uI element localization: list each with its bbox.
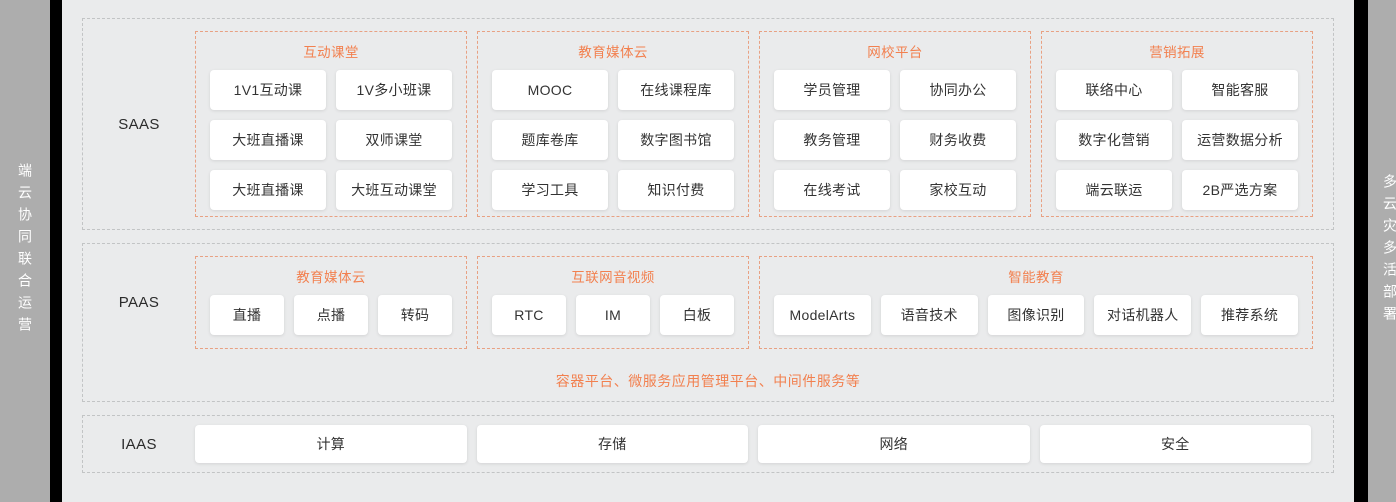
chip-item[interactable]: MOOC	[492, 70, 608, 110]
right-rail: 多云灾多活部署	[1368, 0, 1396, 502]
group-jiaoyumeitiyun: 教育媒体云 MOOC 在线课程库 题库卷库 数字图书馆 学习工具 知识付费	[477, 31, 749, 217]
group-paas-jiaoyumeitiyun: 教育媒体云 直播 点播 转码	[195, 256, 467, 349]
chip-item[interactable]: 教务管理	[774, 120, 890, 160]
chip-item[interactable]: 直播	[210, 295, 284, 335]
group-title: 教育媒体云	[578, 46, 648, 60]
chip-item[interactable]: 在线课程库	[618, 70, 734, 110]
left-rail: 端云协同联合运营	[0, 0, 50, 502]
chip-item[interactable]: ModelArts	[774, 295, 871, 335]
chip-item[interactable]: 学习工具	[492, 170, 608, 210]
tier-iaas-label: IAAS	[83, 416, 195, 472]
saas-groups: 互动课堂 1V1互动课 1V多小班课 大班直播课 双师课堂 大班直播课 大班互动…	[195, 19, 1333, 229]
group-items: 1V1互动课 1V多小班课 大班直播课 双师课堂 大班直播课 大班互动课堂	[210, 70, 452, 210]
tier-saas-body: 互动课堂 1V1互动课 1V多小班课 大班直播课 双师课堂 大班直播课 大班互动…	[195, 19, 1333, 229]
group-huodongketang: 互动课堂 1V1互动课 1V多小班课 大班直播课 双师课堂 大班直播课 大班互动…	[195, 31, 467, 217]
tier-paas-label: PAAS	[83, 244, 195, 361]
tier-stack: SAAS 互动课堂 1V1互动课 1V多小班课 大班直播课 双师课堂 大班直播课…	[62, 0, 1354, 502]
chip-item[interactable]: 学员管理	[774, 70, 890, 110]
chip-item[interactable]: 白板	[660, 295, 734, 335]
tier-iaas: IAAS 计算 存储 网络 安全	[82, 415, 1334, 473]
group-title: 营销拓展	[1149, 46, 1205, 60]
group-title: 互联网音视频	[571, 271, 654, 285]
paas-footer-note: 容器平台、微服务应用管理平台、中间件服务等	[83, 361, 1333, 401]
group-items: ModelArts 语音技术 图像识别 对话机器人 推荐系统	[774, 295, 1298, 335]
tier-paas: PAAS 教育媒体云 直播 点播 转码 互联网音视频 RTC	[82, 243, 1334, 402]
chip-item[interactable]: 大班直播课	[210, 170, 326, 210]
chip-item[interactable]: 存储	[477, 425, 749, 463]
group-hulianwangyinshipin: 互联网音视频 RTC IM 白板	[477, 256, 749, 349]
group-wangxiaopingtai: 网校平台 学员管理 协同办公 教务管理 财务收费 在线考试 家校互动	[759, 31, 1031, 217]
chip-item[interactable]: 协同办公	[900, 70, 1016, 110]
group-items: RTC IM 白板	[492, 295, 734, 335]
left-rail-label: 端云协同联合运营	[18, 163, 32, 339]
chip-item[interactable]: 图像识别	[988, 295, 1085, 335]
tier-saas-label: SAAS	[83, 19, 195, 229]
chip-item[interactable]: 安全	[1040, 425, 1312, 463]
chip-item[interactable]: 数字图书馆	[618, 120, 734, 160]
group-title: 互动课堂	[303, 46, 359, 60]
tier-saas: SAAS 互动课堂 1V1互动课 1V多小班课 大班直播课 双师课堂 大班直播课…	[82, 18, 1334, 230]
chip-item[interactable]: 推荐系统	[1201, 295, 1298, 335]
chip-item[interactable]: 2B严选方案	[1182, 170, 1298, 210]
group-yingxiaotuozhan: 营销拓展 联络中心 智能客服 数字化营销 运营数据分析 端云联运 2B严选方案	[1041, 31, 1313, 217]
group-title: 智能教育	[1008, 271, 1064, 285]
group-title: 教育媒体云	[296, 271, 366, 285]
chip-item[interactable]: 计算	[195, 425, 467, 463]
group-items: 直播 点播 转码	[210, 295, 452, 335]
chip-item[interactable]: 大班互动课堂	[336, 170, 452, 210]
chip-item[interactable]: 联络中心	[1056, 70, 1172, 110]
chip-item[interactable]: 语音技术	[881, 295, 978, 335]
group-items: MOOC 在线课程库 题库卷库 数字图书馆 学习工具 知识付费	[492, 70, 734, 210]
right-rail-divider	[1354, 0, 1368, 502]
iaas-items: 计算 存储 网络 安全	[195, 416, 1333, 472]
chip-item[interactable]: 家校互动	[900, 170, 1016, 210]
chip-item[interactable]: 双师课堂	[336, 120, 452, 160]
chip-item[interactable]: 智能客服	[1182, 70, 1298, 110]
chip-item[interactable]: 转码	[378, 295, 452, 335]
chip-item[interactable]: 题库卷库	[492, 120, 608, 160]
chip-item[interactable]: 运营数据分析	[1182, 120, 1298, 160]
group-title: 网校平台	[867, 46, 923, 60]
chip-item[interactable]: RTC	[492, 295, 566, 335]
chip-item[interactable]: 点播	[294, 295, 368, 335]
group-zhinengjiaoyu: 智能教育 ModelArts 语音技术 图像识别 对话机器人 推荐系统	[759, 256, 1313, 349]
chip-item[interactable]: 1V多小班课	[336, 70, 452, 110]
chip-item[interactable]: 对话机器人	[1094, 295, 1191, 335]
left-rail-divider	[50, 0, 62, 502]
chip-item[interactable]: 知识付费	[618, 170, 734, 210]
chip-item[interactable]: IM	[576, 295, 650, 335]
chip-item[interactable]: 端云联运	[1056, 170, 1172, 210]
chip-item[interactable]: 网络	[758, 425, 1030, 463]
tier-paas-body: PAAS 教育媒体云 直播 点播 转码 互联网音视频 RTC	[83, 244, 1333, 361]
chip-item[interactable]: 1V1互动课	[210, 70, 326, 110]
chip-item[interactable]: 财务收费	[900, 120, 1016, 160]
architecture-diagram: 端云协同联合运营 SAAS 互动课堂 1V1互动课 1V多小班课 大班直播课 双…	[0, 0, 1396, 502]
group-items: 联络中心 智能客服 数字化营销 运营数据分析 端云联运 2B严选方案	[1056, 70, 1298, 210]
group-items: 学员管理 协同办公 教务管理 财务收费 在线考试 家校互动	[774, 70, 1016, 210]
chip-item[interactable]: 大班直播课	[210, 120, 326, 160]
paas-groups: 教育媒体云 直播 点播 转码 互联网音视频 RTC IM 白板	[195, 244, 1333, 361]
chip-item[interactable]: 数字化营销	[1056, 120, 1172, 160]
chip-item[interactable]: 在线考试	[774, 170, 890, 210]
right-rail-label: 多云灾多活部署	[1383, 174, 1396, 328]
